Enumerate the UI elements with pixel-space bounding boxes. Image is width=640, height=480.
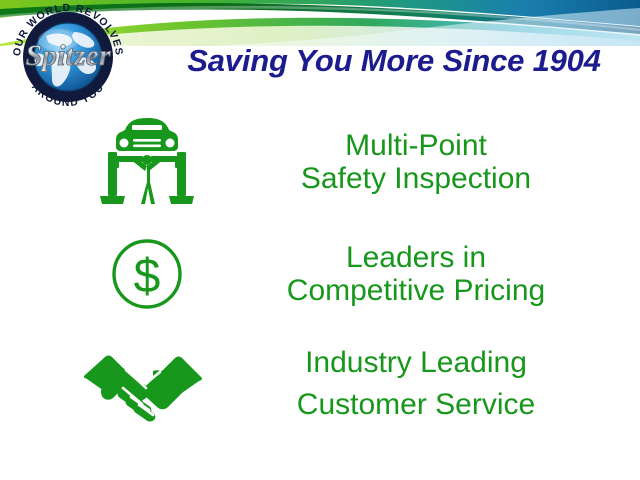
svg-text:$: $ [134,250,161,303]
feature-line-2: Customer Service [206,384,626,426]
car-on-lift-icon [88,116,206,208]
feature-row-competitive-pricing: $ Leaders in Competitive Pricing [88,228,640,320]
feature-line-1: Multi-Point [206,129,626,162]
feature-line-2: Safety Inspection [206,162,626,195]
feature-row-safety-inspection: Multi-Point Safety Inspection [88,114,640,210]
promo-slide: OUR WORLD REVOLVES AROUND YOU Spitzer Sa… [0,0,640,480]
handshake-icon [80,343,206,425]
feature-text-competitive-pricing: Leaders in Competitive Pricing [206,241,626,307]
feature-line-1: Leaders in [206,241,626,274]
feature-line-1: Industry Leading [206,342,626,384]
feature-text-safety-inspection: Multi-Point Safety Inspection [206,129,626,195]
logo-wordmark: Spitzer [25,39,110,72]
dollar-circle-icon: $ [88,235,206,313]
page-title: Saving You More Since 1904 [150,44,638,78]
feature-row-customer-service: Industry Leading Customer Service [80,334,640,434]
spitzer-logo: OUR WORLD REVOLVES AROUND YOU Spitzer [2,2,138,112]
svg-text:Spitzer: Spitzer [25,39,110,72]
feature-text-customer-service: Industry Leading Customer Service [206,342,626,426]
feature-line-2: Competitive Pricing [206,274,626,307]
